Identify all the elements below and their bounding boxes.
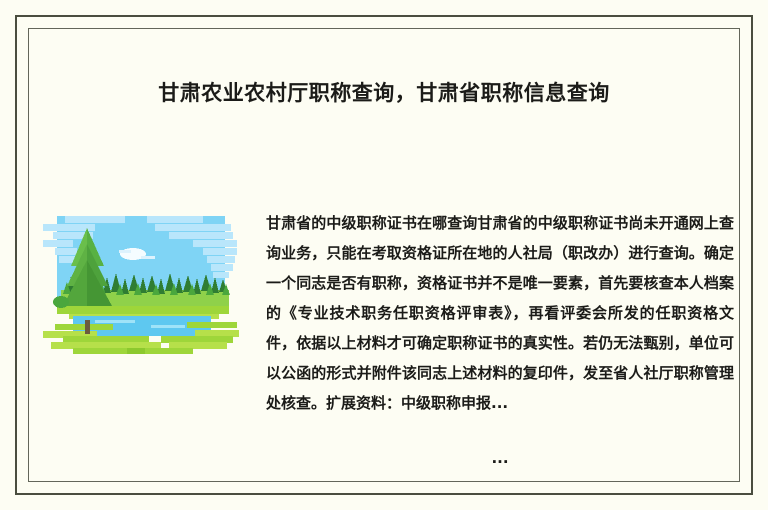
page-title: 甘肃农业农村厅职称查询，甘肃省职称信息查询: [0, 78, 768, 108]
page-root: 甘肃农业农村厅职称查询，甘肃省职称信息查询: [0, 0, 768, 510]
forest-lake-landscape-illustration: [43, 198, 239, 354]
article-paragraph: 甘肃省的中级职称证书在哪查询甘肃省的中级职称证书尚未开通网上查询业务，只能在考取…: [266, 208, 734, 418]
article-ellipsis: ...: [266, 448, 734, 468]
